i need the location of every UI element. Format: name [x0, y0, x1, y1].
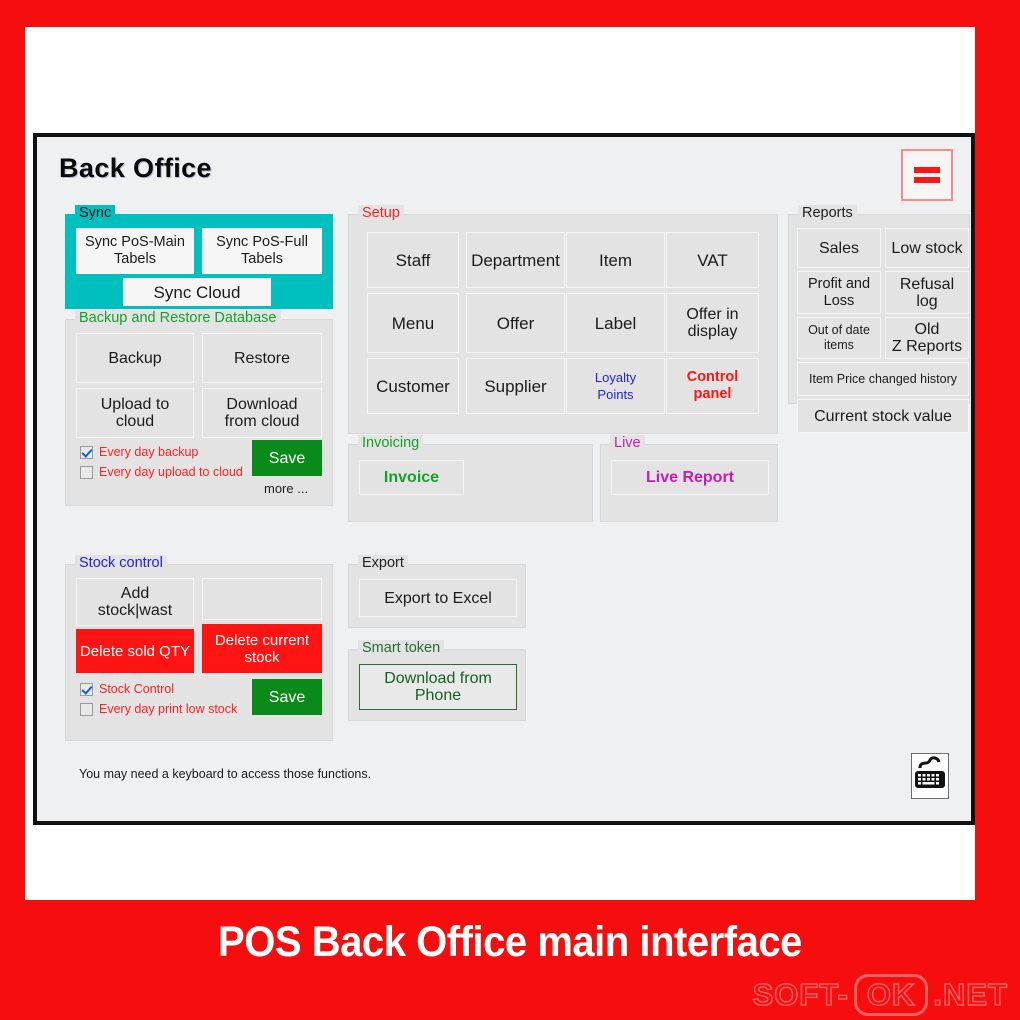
checkbox-box[interactable]: [80, 703, 93, 716]
group-setup: Setup Staff Department Item VAT Menu Off…: [348, 214, 778, 434]
group-invoicing-legend: Invoicing: [358, 435, 423, 451]
back-office-window: Back Office Sync Sync PoS-Main Tabels Sy…: [33, 133, 975, 825]
label-button[interactable]: Label: [566, 293, 665, 353]
delete-current-stock-button[interactable]: Delete current stock: [202, 624, 322, 673]
group-sync-legend: Sync: [75, 205, 115, 221]
delete-sold-qty-button[interactable]: Delete sold QTY: [76, 629, 194, 673]
group-reports: Reports Sales Low stock Profit and Loss …: [788, 214, 970, 404]
restore-button[interactable]: Restore: [202, 333, 322, 383]
checkbox-stock-control[interactable]: Stock Control: [80, 682, 174, 696]
export-to-excel-button[interactable]: Export to Excel: [359, 579, 517, 617]
vat-button[interactable]: VAT: [666, 232, 759, 288]
old-z-reports-button[interactable]: Old Z Reports: [885, 317, 969, 359]
checkbox-every-day-upload-to-cloud[interactable]: Every day upload to cloud: [80, 465, 243, 479]
page-title: Back Office: [59, 153, 212, 184]
equals-icon: [914, 163, 940, 187]
group-reports-legend: Reports: [798, 205, 857, 221]
upload-to-cloud-button[interactable]: Upload to cloud: [76, 388, 194, 438]
group-live-legend: Live: [610, 435, 645, 451]
profit-and-loss-report-button[interactable]: Profit and Loss: [797, 271, 881, 314]
checkbox-every-day-backup[interactable]: Every day backup: [80, 445, 198, 459]
department-button[interactable]: Department: [466, 232, 565, 288]
stock-save-button[interactable]: Save: [252, 679, 322, 715]
group-smart-token: Smart token Download from Phone: [348, 649, 526, 721]
group-invoicing: Invoicing Invoice: [348, 444, 593, 522]
sales-report-button[interactable]: Sales: [797, 228, 881, 268]
group-backup-restore: Backup and Restore Database Backup Resto…: [65, 319, 333, 506]
group-setup-legend: Setup: [358, 205, 404, 221]
live-report-button[interactable]: Live Report: [611, 460, 769, 495]
checkbox-label: Every day upload to cloud: [99, 465, 243, 479]
invoice-button[interactable]: Invoice: [359, 460, 464, 495]
checkbox-label: Every day print low stock: [99, 702, 237, 716]
checkbox-box[interactable]: [80, 446, 93, 459]
sync-cloud-button[interactable]: Sync Cloud: [123, 278, 271, 306]
banner-caption: POS Back Office main interface: [36, 918, 985, 967]
menu-button[interactable]: [901, 149, 953, 201]
backup-more-link[interactable]: more ...: [264, 481, 308, 496]
group-stock-control: Stock control Add stock|wast Delete sold…: [65, 564, 333, 741]
download-from-cloud-button[interactable]: Download from cloud: [202, 388, 322, 438]
sync-pos-main-tabels-button[interactable]: Sync PoS-Main Tabels: [76, 228, 194, 274]
current-stock-value-button[interactable]: Current stock value: [797, 399, 969, 433]
sync-pos-full-tabels-button[interactable]: Sync PoS-Full Tabels: [202, 228, 322, 274]
low-stock-report-button[interactable]: Low stock: [885, 228, 969, 268]
menu-setup-button[interactable]: Menu: [367, 293, 459, 353]
group-export-legend: Export: [358, 555, 408, 571]
checkbox-box[interactable]: [80, 683, 93, 696]
item-button[interactable]: Item: [566, 232, 665, 288]
backup-button[interactable]: Backup: [76, 333, 194, 383]
group-stock-control-legend: Stock control: [75, 555, 167, 571]
checkbox-box[interactable]: [80, 466, 93, 479]
refusal-log-report-button[interactable]: Refusal log: [885, 271, 969, 314]
item-price-changed-history-button[interactable]: Item Price changed history: [797, 362, 969, 396]
supplier-button[interactable]: Supplier: [466, 358, 565, 414]
add-stock-wast-button[interactable]: Add stock|wast: [76, 578, 194, 626]
watermark-pill: OK: [854, 974, 929, 1016]
group-sync: Sync Sync PoS-Main Tabels Sync PoS-Full …: [65, 214, 333, 309]
keyboard-icon-glyph: [912, 754, 948, 798]
backup-save-button[interactable]: Save: [252, 440, 322, 476]
group-live: Live Live Report: [600, 444, 778, 522]
out-of-date-items-report-button[interactable]: Out of date items: [797, 317, 881, 359]
watermark-right: .NET: [933, 977, 1008, 1013]
watermark-left: SOFT-: [753, 977, 849, 1013]
group-smart-token-legend: Smart token: [358, 640, 444, 656]
group-backup-legend: Backup and Restore Database: [75, 310, 281, 326]
footer-note: You may need a keyboard to access those …: [79, 767, 371, 781]
watermark-logo: SOFT- OK .NET: [753, 974, 1008, 1016]
staff-button[interactable]: Staff: [367, 232, 459, 288]
keyboard-icon[interactable]: [911, 753, 949, 799]
group-export: Export Export to Excel: [348, 564, 526, 628]
checkbox-label: Stock Control: [99, 682, 174, 696]
download-from-phone-button[interactable]: Download from Phone: [359, 664, 517, 710]
customer-button[interactable]: Customer: [367, 358, 459, 414]
bottom-banner: POS Back Office main interface SOFT- OK …: [0, 900, 1020, 1020]
checkbox-every-day-print-low-stock[interactable]: Every day print low stock: [80, 702, 237, 716]
offer-in-display-button[interactable]: Offer in display: [666, 293, 759, 353]
control-panel-button[interactable]: Control panel: [666, 358, 759, 414]
stock-empty-button[interactable]: [202, 578, 322, 620]
offer-button[interactable]: Offer: [466, 293, 565, 353]
checkbox-label: Every day backup: [99, 445, 198, 459]
loyalty-points-button[interactable]: Loyalty Points: [566, 358, 665, 414]
